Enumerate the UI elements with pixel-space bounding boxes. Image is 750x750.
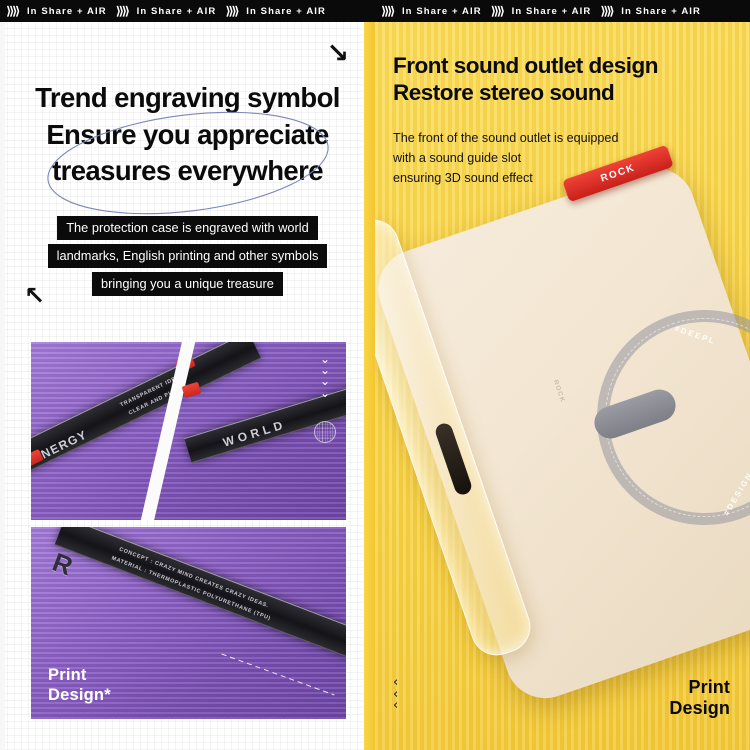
print-design-line-1: Print [48,666,111,685]
highlight-line: The protection case is engraved with wor… [57,216,318,240]
phone-case-photo: #DEEPL #DESIGN ROCK ROCK [375,150,750,750]
chevron-right-group-icon: ⟩⟩⟩⟩ [491,4,503,18]
footer-line-2: Design [669,698,730,720]
chevron-right-group-icon: ⟩⟩⟩⟩ [381,4,393,18]
print-design-line-2: Design* [48,686,111,705]
chevron-left-icon: ‹ [393,701,398,712]
chevron-left-stack: ‹ ‹ ‹ [393,678,398,712]
banner-text: In Share + AIR [27,6,107,17]
print-design-overlay: Print Design* [48,666,111,705]
chevron-down-stack: ⌄ ⌄ ⌄ ⌄ [320,354,330,398]
chevron-right-group-icon: ⟩⟩⟩⟩ [6,4,18,18]
left-panel: ↘ Trend engraving symbol Ensure you appr… [0,0,375,750]
chevron-right-group-icon: ⟩⟩⟩⟩ [116,4,128,18]
right-headline-line-2: Restore stereo sound [393,80,614,105]
product-photo-group: ENERGY TRANSPARENT IDEAS CLEAR AND PURE … [31,342,346,719]
body-line-1: The front of the sound outlet is equippe… [393,129,750,149]
highlight-line: bringing you a unique treasure [92,272,283,296]
footer-line-1: Print [669,677,730,699]
globe-icon [314,421,336,443]
left-headline-block: Trend engraving symbol Ensure you apprec… [0,80,375,190]
chevron-right-group-icon: ⟩⟩⟩⟩ [225,4,237,18]
banner-text: In Share + AIR [512,6,592,17]
ring-text-top: #DEEPL [673,324,717,347]
headline-line-2: Ensure you appreciate [46,119,328,150]
ring-text-bottom: #DESIGN [722,470,750,517]
banner-run: ⟩⟩⟩⟩ In Share + AIR ⟩⟩⟩⟩ In Share + AIR … [375,4,701,18]
banner-run: ⟩⟩⟩⟩ In Share + AIR ⟩⟩⟩⟩ In Share + AIR … [0,4,326,18]
banner-text: In Share + AIR [621,6,701,17]
arrow-up-left-icon: ↖ [24,283,45,308]
banner-text: In Share + AIR [402,6,482,17]
banner-text: In Share + AIR [137,6,217,17]
top-banner-left: ⟩⟩⟩⟩ In Share + AIR ⟩⟩⟩⟩ In Share + AIR … [0,0,375,22]
headline-line-1: Trend engraving symbol [35,82,340,113]
top-banner-right: ⟩⟩⟩⟩ In Share + AIR ⟩⟩⟩⟩ In Share + AIR … [375,0,750,22]
headline-line-3: treasures everywhere [52,155,323,186]
arrow-down-right-icon: ↘ [326,40,349,67]
chevron-down-icon: ⌄ [320,388,330,398]
right-page-title: Front sound outlet design Restore stereo… [393,52,750,107]
right-headline-block: Front sound outlet design Restore stereo… [375,22,750,107]
highlight-text-block: The protection case is engraved with wor… [0,216,375,301]
highlight-line: landmarks, English printing and other sy… [48,244,328,268]
chevron-right-group-icon: ⟩⟩⟩⟩ [600,4,612,18]
right-headline-line-1: Front sound outlet design [393,53,658,78]
banner-text: In Share + AIR [246,6,326,17]
product-marketing-page: ↘ Trend engraving symbol Ensure you appr… [0,0,750,750]
product-photo-bottom: R CONCEPT : CRAZY MIND CREATES CRAZY IDE… [31,527,346,719]
right-panel: Front sound outlet design Restore stereo… [375,0,750,750]
print-design-footer: Print Design [669,677,730,720]
product-photo-top: ENERGY TRANSPARENT IDEAS CLEAR AND PURE … [31,342,346,520]
page-title: Trend engraving symbol Ensure you apprec… [14,80,361,190]
